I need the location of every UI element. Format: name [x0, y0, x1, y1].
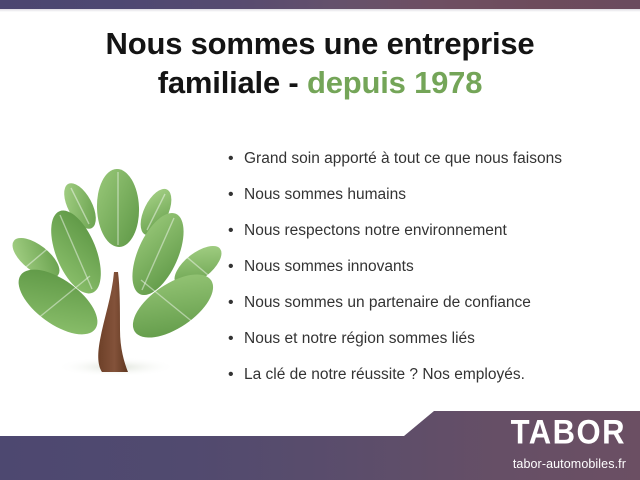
title-line-2-accent: depuis 1978 [307, 65, 482, 100]
list-item: • Nous respectons notre environnement [228, 220, 628, 256]
list-item-label: La clé de notre réussite ? Nos employés. [244, 364, 525, 386]
bullet-marker-icon: • [228, 256, 244, 278]
title-line-2: familiale - depuis 1978 [0, 65, 640, 102]
list-item: • Grand soin apporté à tout ce que nous … [228, 148, 628, 184]
bullet-marker-icon: • [228, 292, 244, 314]
list-item-label: Nous et notre région sommes liés [244, 328, 475, 350]
list-item-label: Nous sommes innovants [244, 256, 414, 278]
title-line-2-static: familiale - [158, 65, 299, 100]
family-tree-illustration [8, 150, 223, 390]
top-accent-strip [0, 0, 640, 9]
slide-canvas: Nous sommes une entreprise familiale - d… [0, 0, 640, 480]
bullet-marker-icon: • [228, 220, 244, 242]
list-item-label: Nous sommes humains [244, 184, 406, 206]
page-title: Nous sommes une entreprise familiale - d… [0, 26, 640, 101]
footer-brand-bar: TABOR tabor-automobiles.fr [0, 400, 640, 480]
brand-logo: TABOR tabor-automobiles.fr [436, 418, 626, 471]
top-accent-strip-shadow [0, 9, 640, 12]
value-bullet-list: • Grand soin apporté à tout ce que nous … [228, 148, 628, 400]
list-item-label: Grand soin apporté à tout ce que nous fa… [244, 148, 562, 170]
list-item: • Nous sommes innovants [228, 256, 628, 292]
bullet-marker-icon: • [228, 148, 244, 170]
list-item: • Nous et notre région sommes liés [228, 328, 628, 364]
bullet-marker-icon: • [228, 328, 244, 350]
list-item: • Nous sommes humains [228, 184, 628, 220]
bullet-marker-icon: • [228, 364, 244, 386]
brand-tagline-text: tabor-automobiles.fr [436, 458, 626, 471]
list-item: • La clé de notre réussite ? Nos employé… [228, 364, 628, 400]
list-item-label: Nous respectons notre environnement [244, 220, 507, 242]
brand-name-text: TABOR [436, 414, 626, 449]
list-item: • Nous sommes un partenaire de confiance [228, 292, 628, 328]
list-item-label: Nous sommes un partenaire de confiance [244, 292, 531, 314]
tree-trunk [98, 272, 128, 372]
bullet-marker-icon: • [228, 184, 244, 206]
title-line-1: Nous sommes une entreprise [0, 26, 640, 63]
